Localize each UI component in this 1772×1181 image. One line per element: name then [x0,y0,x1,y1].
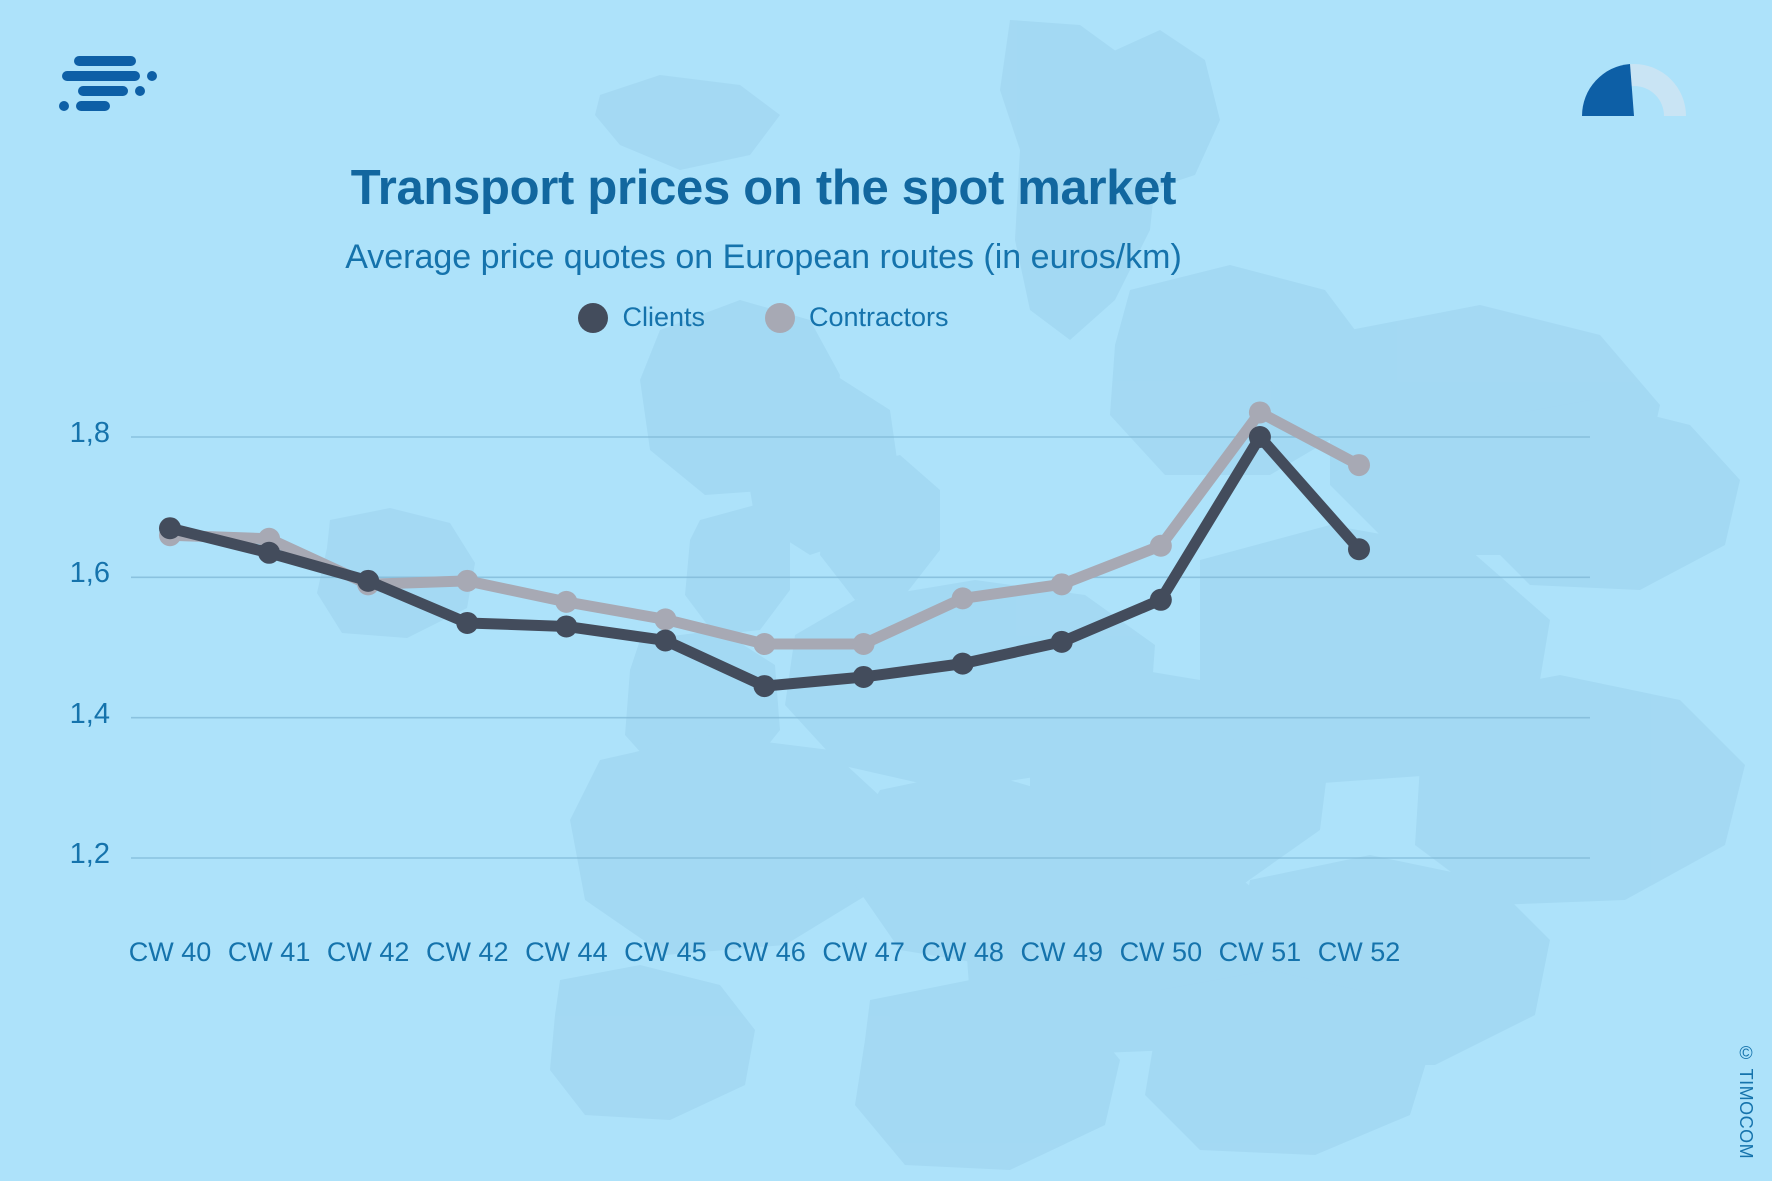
series-line-contractors [170,412,1359,644]
data-point[interactable] [555,615,577,637]
data-point[interactable] [754,675,776,697]
data-point[interactable] [357,570,379,592]
data-point[interactable] [159,517,181,539]
data-point[interactable] [952,653,974,675]
line-chart-plot [0,0,1772,1181]
data-point[interactable] [654,629,676,651]
y-axis-tick-label: 1,8 [20,417,110,450]
data-point[interactable] [654,608,676,630]
data-point[interactable] [1051,631,1073,653]
data-point[interactable] [853,633,875,655]
copyright-notice: © TIMOCOM [1735,1043,1756,1159]
series-layer [159,401,1370,697]
data-point[interactable] [456,570,478,592]
data-point[interactable] [1150,589,1172,611]
data-point[interactable] [853,666,875,688]
data-point[interactable] [1249,401,1271,423]
y-axis-tick-label: 1,4 [20,698,110,731]
data-point[interactable] [555,591,577,613]
y-axis-tick-label: 1,2 [20,838,110,871]
data-point[interactable] [754,633,776,655]
x-axis-tick-label: CW 52 [1289,937,1429,968]
data-point[interactable] [456,612,478,634]
data-point[interactable] [1051,573,1073,595]
data-point[interactable] [1150,535,1172,557]
data-point[interactable] [952,587,974,609]
data-point[interactable] [1249,426,1271,448]
data-point[interactable] [1348,538,1370,560]
data-point[interactable] [258,542,280,564]
infographic-root: Transport prices on the spot market Aver… [0,0,1772,1181]
y-axis-tick-label: 1,6 [20,557,110,590]
data-point[interactable] [1348,454,1370,476]
